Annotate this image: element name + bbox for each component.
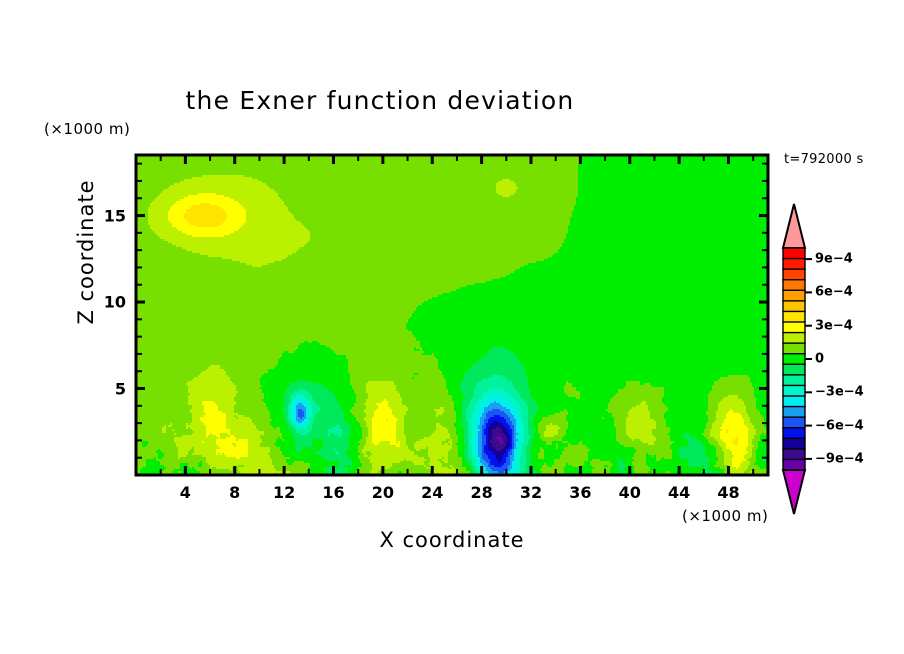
colorbar-bottom-cap bbox=[783, 470, 805, 514]
y-tick-label: 15 bbox=[96, 206, 126, 225]
colorbar-tick-label: 0 bbox=[815, 352, 824, 367]
colorbar-band bbox=[783, 269, 805, 280]
x-tick-label: 12 bbox=[273, 483, 295, 502]
colorbar-tick-label: 9e−4 bbox=[815, 252, 853, 267]
colorbar-band bbox=[783, 396, 805, 407]
x-tick-label: 36 bbox=[569, 483, 591, 502]
x-tick-label: 20 bbox=[372, 483, 394, 502]
colorbar-band bbox=[783, 354, 805, 365]
colorbar-band bbox=[783, 407, 805, 418]
colorbar-band bbox=[783, 449, 805, 460]
colorbar-band bbox=[783, 428, 805, 439]
colorbar-tick-label: 6e−4 bbox=[815, 285, 853, 300]
colorbar-band bbox=[783, 375, 805, 386]
x-tick-label: 4 bbox=[180, 483, 191, 502]
colorbar-band bbox=[783, 343, 805, 354]
colorbar-tick-label: −3e−4 bbox=[815, 385, 864, 400]
colorbar-band bbox=[783, 259, 805, 270]
colorbar-band bbox=[783, 333, 805, 344]
colorbar-tick-label: −6e−4 bbox=[815, 418, 864, 433]
x-tick-label: 16 bbox=[322, 483, 344, 502]
colorbar-band bbox=[783, 280, 805, 291]
colorbar-band bbox=[783, 438, 805, 449]
x-tick-label: 48 bbox=[717, 483, 739, 502]
colorbar-band bbox=[783, 248, 805, 259]
colorbar-tick-label: −9e−4 bbox=[815, 451, 864, 466]
x-tick-label: 24 bbox=[421, 483, 443, 502]
colorbar-band bbox=[783, 322, 805, 333]
x-tick-label: 32 bbox=[520, 483, 542, 502]
colorbar-band bbox=[783, 364, 805, 375]
colorbar-band bbox=[783, 459, 805, 470]
colorbar-band bbox=[783, 290, 805, 301]
colorbar-band bbox=[783, 385, 805, 396]
y-tick-label: 10 bbox=[96, 293, 126, 312]
x-tick-label: 28 bbox=[470, 483, 492, 502]
colorbar-tick-label: 3e−4 bbox=[815, 318, 853, 333]
colorbar-band bbox=[783, 311, 805, 322]
y-tick-label: 5 bbox=[96, 379, 126, 398]
colorbar-top-cap bbox=[783, 204, 805, 248]
colorbar-band bbox=[783, 301, 805, 312]
x-tick-label: 40 bbox=[619, 483, 641, 502]
colorbar-band bbox=[783, 417, 805, 428]
colorbar bbox=[0, 0, 904, 654]
figure-canvas: the Exner function deviation (×1000 m) Z… bbox=[0, 0, 904, 654]
colorbar-bands bbox=[783, 204, 805, 514]
x-tick-label: 44 bbox=[668, 483, 690, 502]
x-tick-label: 8 bbox=[229, 483, 240, 502]
